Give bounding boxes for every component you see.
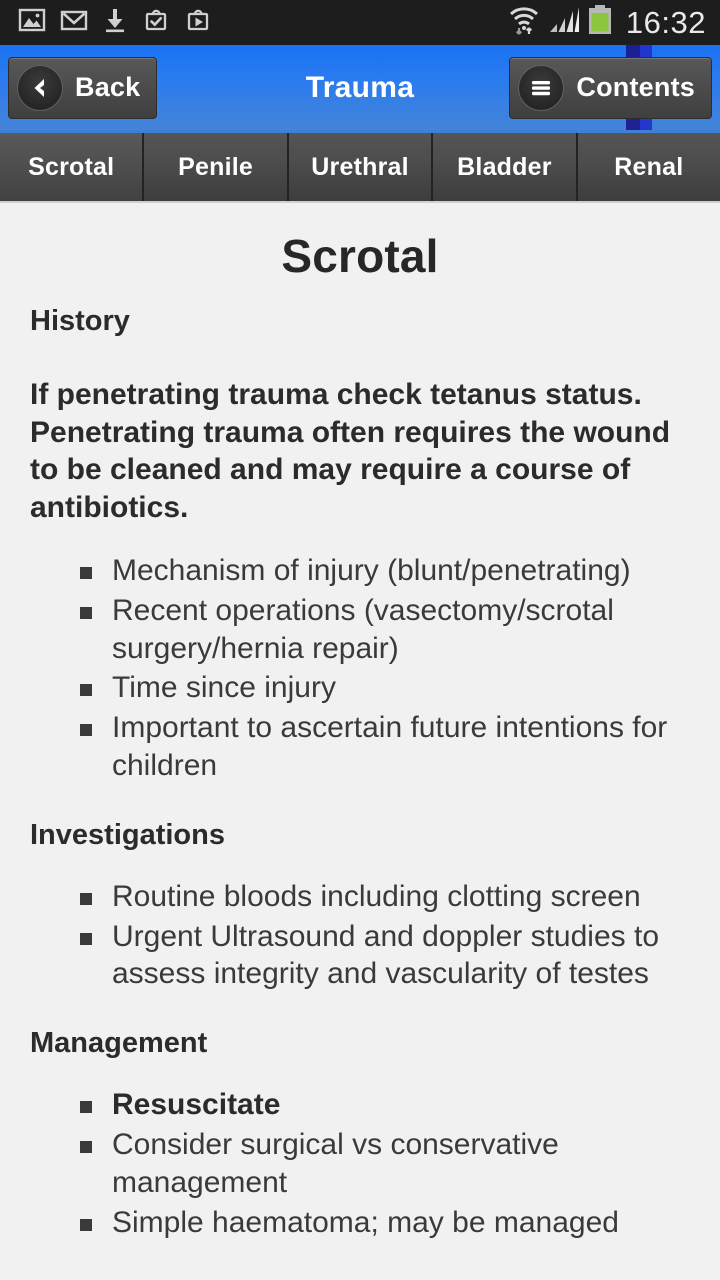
playstore-check-icon: [142, 6, 170, 39]
download-icon: [102, 6, 128, 39]
list-item: Routine bloods including clotting screen: [80, 878, 690, 916]
status-bar-clock: 16:32: [626, 7, 706, 38]
status-bar-system: 16:32: [507, 3, 706, 42]
app-root: 16:32 Back Trauma Contents: [0, 0, 720, 1280]
list-item: Consider surgical vs conservative manage…: [80, 1126, 690, 1202]
section-history: History If penetrating trauma check teta…: [30, 305, 690, 785]
contents-button-label: Contents: [576, 72, 695, 103]
section-heading: History: [30, 305, 690, 338]
section-investigations: Investigations Routine bloods including …: [30, 819, 690, 993]
section-paragraph: If penetrating trauma check tetanus stat…: [30, 376, 690, 526]
bullet-list: Routine bloods including clotting screen…: [30, 878, 690, 993]
back-button-label: Back: [75, 72, 140, 103]
tab-urethral[interactable]: Urethral: [289, 133, 433, 201]
section-spacer: [30, 787, 690, 797]
section-management: Management Resuscitate Consider surgical…: [30, 1027, 690, 1241]
article-content[interactable]: Scrotal History If penetrating trauma ch…: [0, 203, 720, 1280]
status-bar-notifications: [18, 6, 212, 39]
back-button[interactable]: Back: [8, 57, 157, 119]
battery-icon: [587, 4, 613, 41]
status-bar: 16:32: [0, 0, 720, 45]
image-icon: [18, 6, 46, 39]
list-item: Important to ascertain future intentions…: [80, 709, 690, 785]
contents-button[interactable]: Contents: [509, 57, 712, 119]
playstore-play-icon: [184, 6, 212, 39]
tab-renal[interactable]: Renal: [578, 133, 720, 201]
section-heading: Management: [30, 1027, 690, 1060]
list-item: Urgent Ultrasound and doppler studies to…: [80, 918, 690, 994]
list-item: Resuscitate: [80, 1086, 690, 1124]
tab-penile[interactable]: Penile: [144, 133, 288, 201]
chevron-left-icon: [17, 65, 63, 111]
bullet-list: Mechanism of injury (blunt/penetrating) …: [30, 552, 690, 785]
signal-icon: [548, 5, 580, 40]
section-spacer: [30, 995, 690, 1005]
list-item: Simple haematoma; may be managed: [80, 1204, 690, 1242]
tab-scrotal[interactable]: Scrotal: [0, 133, 144, 201]
list-item: Recent operations (vasectomy/scrotal sur…: [80, 592, 690, 668]
list-item: Mechanism of injury (blunt/penetrating): [80, 552, 690, 590]
gmail-icon: [60, 6, 88, 39]
page-title: Scrotal: [30, 229, 690, 283]
tab-bar: Scrotal Penile Urethral Bladder Renal: [0, 133, 720, 203]
bullet-list: Resuscitate Consider surgical vs conserv…: [30, 1086, 690, 1241]
wifi-icon: [507, 3, 541, 42]
hamburger-menu-icon: [518, 65, 564, 111]
section-heading: Investigations: [30, 819, 690, 852]
navigation-bar: Back Trauma Contents: [0, 45, 720, 133]
tab-bladder[interactable]: Bladder: [433, 133, 577, 201]
list-item: Time since injury: [80, 669, 690, 707]
